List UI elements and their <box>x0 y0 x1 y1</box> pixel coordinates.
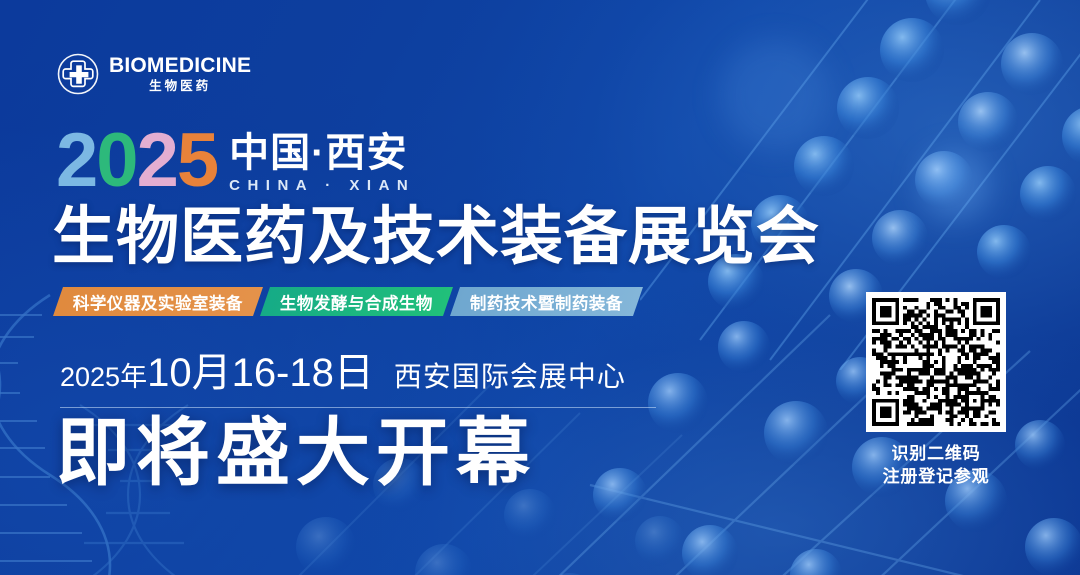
category-tag-instruments: 科学仪器及实验室装备 <box>53 287 263 316</box>
brand-name-cn: 生物医药 <box>149 80 211 93</box>
category-tag-pharma: 制药技术暨制药装备 <box>450 287 643 316</box>
molecule-chain-icon <box>640 0 1080 370</box>
event-headline: 即将盛大开幕 <box>56 412 536 493</box>
category-tag-label: 制药技术暨制药装备 <box>470 290 623 314</box>
year-digit-4: 5 <box>177 118 217 203</box>
year-city-row: 2025 中国·西安 CHINA · XIAN <box>56 126 415 196</box>
brand-logo: BIOMEDICINE 生物医药 <box>56 52 251 96</box>
poster-canvas: BIOMEDICINE 生物医药 2025 中国·西安 CHINA · XIAN… <box>0 0 1080 575</box>
medical-cross-circle-icon <box>56 52 100 96</box>
category-tag-fermentation: 生物发酵与合成生物 <box>260 287 453 316</box>
category-tag-label: 生物发酵与合成生物 <box>280 290 433 314</box>
exhibition-title: 生物医药及技术装备展览会 <box>52 203 820 271</box>
qr-caption-line-1: 识别二维码 <box>883 443 990 466</box>
category-tag-label: 科学仪器及实验室装备 <box>73 290 243 314</box>
year-digit-3: 2 <box>137 118 177 203</box>
qr-caption: 识别二维码 注册登记参观 <box>883 443 990 489</box>
year-number: 2025 <box>56 126 217 196</box>
year-digit-2: 0 <box>96 118 136 203</box>
qr-registration-block[interactable]: 识别二维码 注册登记参观 <box>866 292 1006 489</box>
glow-accent-top <box>720 40 830 150</box>
event-date-venue: 2025年 10月16-18日 西安国际会展中心 <box>60 340 656 408</box>
city-block: 中国·西安 CHINA · XIAN <box>229 133 415 196</box>
event-venue: 西安国际会展中心 <box>394 355 626 395</box>
event-month-day: 10月16-18日 <box>147 340 374 398</box>
qr-code-icon[interactable] <box>872 298 1000 426</box>
year-digit-1: 2 <box>56 118 96 203</box>
city-name-en: CHINA · XIAN <box>229 177 415 194</box>
category-tag-list: 科学仪器及实验室装备 生物发酵与合成生物 制药技术暨制药装备 <box>58 287 645 316</box>
event-year-label: 2025年 <box>60 355 147 394</box>
city-name-cn: 中国·西安 <box>229 133 415 173</box>
qr-code-frame[interactable] <box>866 292 1006 432</box>
brand-name-en: BIOMEDICINE <box>109 55 251 76</box>
qr-caption-line-2: 注册登记参观 <box>883 466 990 489</box>
glow-accent-right <box>920 150 990 220</box>
